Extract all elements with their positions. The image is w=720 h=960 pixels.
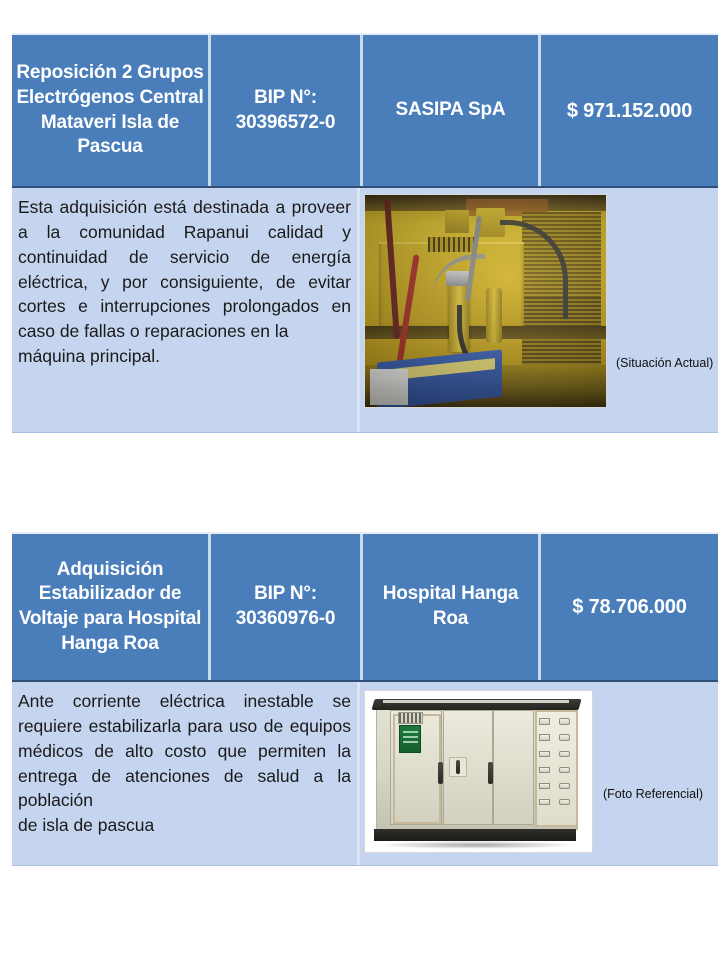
table-header-row: Adquisición Estabilizador de Voltaje par… [12,532,718,682]
header-amount: $ 971.152.000 [538,35,718,186]
description-text: Esta adquisición está destinada a provee… [18,197,351,341]
voltage-stabilizer-cabinet-photo [364,690,593,853]
document-page: Reposición 2 Grupos Electrógenos Central… [0,0,720,960]
photo-caption: (Situación Actual) [616,356,713,370]
table-body-row: Ante corriente eléctrica inestable se re… [12,682,718,866]
header-bip-number: BIP N°: 30396572-0 [208,35,360,186]
description-text: Ante corriente eléctrica inestable se re… [18,691,351,810]
description-cell: Ante corriente eléctrica inestable se re… [12,682,360,865]
header-bip-number: BIP N°: 30360976-0 [208,534,360,680]
header-amount: $ 78.706.000 [538,534,718,680]
header-project-name: Adquisición Estabilizador de Voltaje par… [12,534,208,680]
description-cell: Esta adquisición está destinada a provee… [12,188,360,432]
project-table-generator: Reposición 2 Grupos Electrógenos Central… [12,33,718,433]
photo-caption: (Foto Referencial) [603,787,703,801]
header-organization: Hospital Hanga Roa [360,534,538,680]
description-last-line: máquina principal. [18,344,351,369]
project-table-stabilizer: Adquisición Estabilizador de Voltaje par… [12,532,718,866]
generator-engine-photo [364,194,607,408]
table-header-row: Reposición 2 Grupos Electrógenos Central… [12,33,718,188]
media-cell: (Situación Actual) [360,188,718,432]
media-cell: (Foto Referencial) [360,682,718,865]
table-body-row: Esta adquisición está destinada a provee… [12,188,718,433]
description-last-line: de isla de pascua [18,813,351,838]
header-organization: SASIPA SpA [360,35,538,186]
header-project-name: Reposición 2 Grupos Electrógenos Central… [12,35,208,186]
